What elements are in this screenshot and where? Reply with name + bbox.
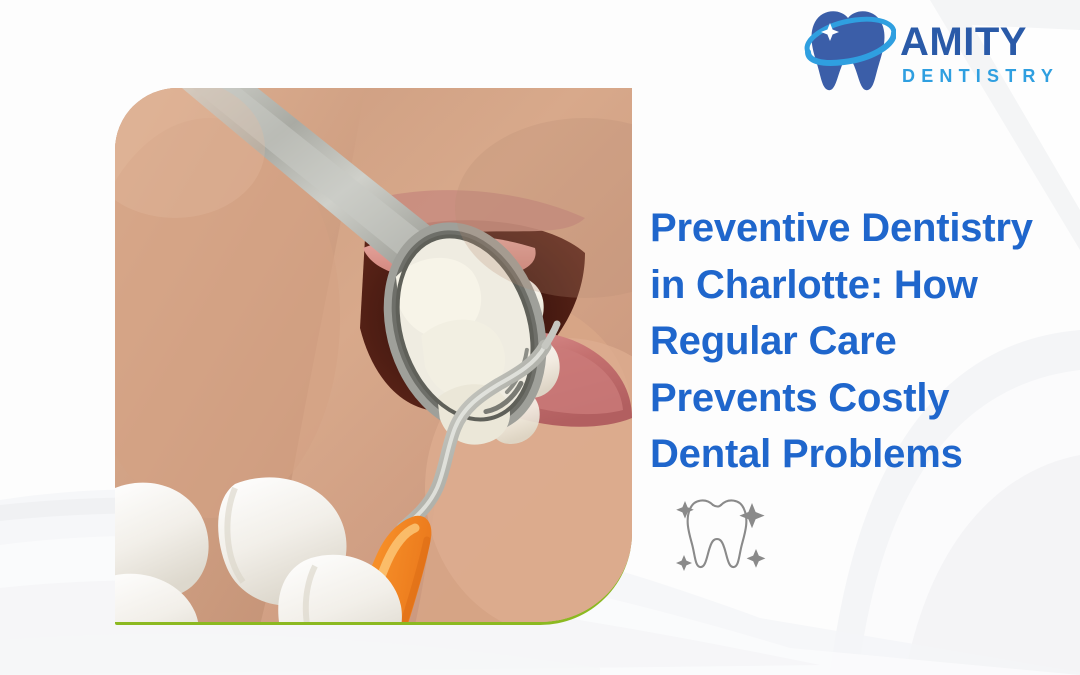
- page-title-line-1: Preventive Dentistry: [650, 200, 1070, 257]
- sparkling-tooth-icon: [668, 487, 778, 582]
- page-title-line-4: Prevents Costly: [650, 370, 1070, 427]
- blog-hero-banner: AMITY DENTISTRY: [0, 0, 1080, 675]
- brand-logo[interactable]: AMITY DENTISTRY: [800, 6, 1072, 98]
- brand-name-secondary: DENTISTRY: [902, 67, 1059, 85]
- page-title-line-5: Dental Problems: [650, 426, 1070, 483]
- brand-name-primary: AMITY: [900, 22, 1059, 62]
- page-title-line-3: Regular Care: [650, 313, 1070, 370]
- hero-photo: [115, 88, 632, 625]
- page-title-line-2: in Charlotte: How: [650, 257, 1070, 314]
- tooth-orbit-logo-icon: [800, 6, 896, 98]
- page-title: Preventive Dentistry in Charlotte: How R…: [650, 200, 1070, 483]
